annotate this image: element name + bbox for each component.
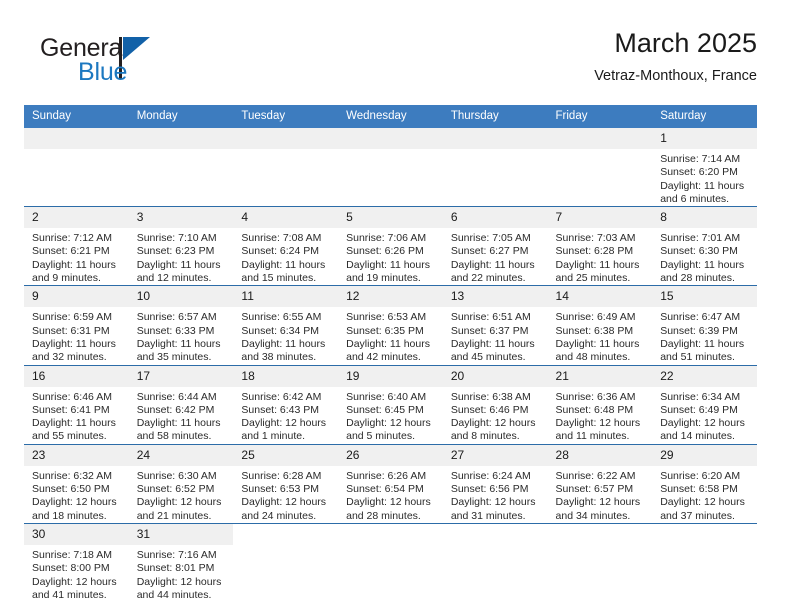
daylight-text-line1: Daylight: 11 hours [556,259,647,272]
calendar-week-row: 30Sunrise: 7:18 AMSunset: 8:00 PMDayligh… [24,523,757,602]
calendar-day-cell[interactable]: 2Sunrise: 7:12 AMSunset: 6:21 PMDaylight… [24,207,129,286]
day-number: 9 [24,286,129,307]
calendar-day-cell[interactable]: 29Sunrise: 6:20 AMSunset: 6:58 PMDayligh… [652,444,757,523]
day-number: 14 [548,286,653,307]
daylight-text-line2: and 24 minutes. [241,510,332,523]
daylight-text-line1: Daylight: 11 hours [660,180,751,193]
day-details: Sunrise: 6:22 AMSunset: 6:57 PMDaylight:… [548,466,653,523]
day-number [233,128,338,149]
sunset-text: Sunset: 6:48 PM [556,404,647,417]
calendar-day-cell[interactable]: 30Sunrise: 7:18 AMSunset: 8:00 PMDayligh… [24,523,129,602]
day-number [548,524,653,545]
day-details: Sunrise: 6:44 AMSunset: 6:42 PMDaylight:… [129,387,234,444]
daylight-text-line1: Daylight: 12 hours [137,576,228,589]
sunset-text: Sunset: 6:41 PM [32,404,123,417]
sunrise-text: Sunrise: 6:42 AM [241,391,332,404]
daylight-text-line2: and 31 minutes. [451,510,542,523]
daylight-text-line2: and 22 minutes. [451,272,542,285]
sunset-text: Sunset: 6:45 PM [346,404,437,417]
day-number: 6 [443,207,548,228]
calendar-day-cell[interactable]: 23Sunrise: 6:32 AMSunset: 6:50 PMDayligh… [24,444,129,523]
calendar-cell-blank [233,128,338,207]
daylight-text-line1: Daylight: 12 hours [451,417,542,430]
day-number: 24 [129,445,234,466]
day-number: 28 [548,445,653,466]
day-details: Sunrise: 6:30 AMSunset: 6:52 PMDaylight:… [129,466,234,523]
calendar-cell-blank [338,128,443,207]
sunrise-text: Sunrise: 6:55 AM [241,311,332,324]
day-number: 22 [652,366,757,387]
calendar-day-cell[interactable]: 26Sunrise: 6:26 AMSunset: 6:54 PMDayligh… [338,444,443,523]
sunrise-text: Sunrise: 6:46 AM [32,391,123,404]
sunrise-text: Sunrise: 6:51 AM [451,311,542,324]
daylight-text-line1: Daylight: 12 hours [556,496,647,509]
location-subtitle: Vetraz-Monthoux, France [594,65,757,87]
sunset-text: Sunset: 6:20 PM [660,166,751,179]
day-details: Sunrise: 6:46 AMSunset: 6:41 PMDaylight:… [24,387,129,444]
calendar-day-cell[interactable]: 21Sunrise: 6:36 AMSunset: 6:48 PMDayligh… [548,365,653,444]
calendar-day-cell[interactable]: 18Sunrise: 6:42 AMSunset: 6:43 PMDayligh… [233,365,338,444]
calendar-day-cell[interactable]: 12Sunrise: 6:53 AMSunset: 6:35 PMDayligh… [338,286,443,365]
day-details: Sunrise: 7:12 AMSunset: 6:21 PMDaylight:… [24,228,129,285]
sunset-text: Sunset: 6:30 PM [660,245,751,258]
calendar-week-row: 1Sunrise: 7:14 AMSunset: 6:20 PMDaylight… [24,128,757,207]
calendar-day-cell[interactable]: 17Sunrise: 6:44 AMSunset: 6:42 PMDayligh… [129,365,234,444]
daylight-text-line2: and 38 minutes. [241,351,332,364]
page-title: March 2025 [594,26,757,60]
sunrise-text: Sunrise: 7:08 AM [241,232,332,245]
daylight-text-line2: and 18 minutes. [32,510,123,523]
day-details: Sunrise: 7:01 AMSunset: 6:30 PMDaylight:… [652,228,757,285]
day-details: Sunrise: 7:06 AMSunset: 6:26 PMDaylight:… [338,228,443,285]
sunrise-text: Sunrise: 6:28 AM [241,470,332,483]
day-number: 19 [338,366,443,387]
daylight-text-line2: and 55 minutes. [32,430,123,443]
day-number [443,524,548,545]
daylight-text-line2: and 1 minute. [241,430,332,443]
day-details: Sunrise: 6:57 AMSunset: 6:33 PMDaylight:… [129,307,234,364]
calendar-day-cell[interactable]: 8Sunrise: 7:01 AMSunset: 6:30 PMDaylight… [652,207,757,286]
sunset-text: Sunset: 6:26 PM [346,245,437,258]
day-number [338,128,443,149]
weekday-header-sunday: Sunday [24,105,129,128]
calendar-week-row: 9Sunrise: 6:59 AMSunset: 6:31 PMDaylight… [24,286,757,365]
calendar-cell-blank [443,128,548,207]
day-number: 18 [233,366,338,387]
weekday-header-wednesday: Wednesday [338,105,443,128]
sunset-text: Sunset: 6:35 PM [346,325,437,338]
sunset-text: Sunset: 6:28 PM [556,245,647,258]
sunset-text: Sunset: 6:38 PM [556,325,647,338]
sunrise-text: Sunrise: 7:05 AM [451,232,542,245]
day-number: 5 [338,207,443,228]
daylight-text-line1: Daylight: 12 hours [241,417,332,430]
day-details: Sunrise: 6:38 AMSunset: 6:46 PMDaylight:… [443,387,548,444]
sunrise-text: Sunrise: 6:34 AM [660,391,751,404]
sunrise-text: Sunrise: 6:32 AM [32,470,123,483]
sunset-text: Sunset: 6:23 PM [137,245,228,258]
daylight-text-line2: and 25 minutes. [556,272,647,285]
daylight-text-line1: Daylight: 11 hours [137,338,228,351]
general-blue-logo[interactable]: General Blue [40,34,240,94]
day-number [24,128,129,149]
day-number: 17 [129,366,234,387]
daylight-text-line2: and 51 minutes. [660,351,751,364]
daylight-text-line2: and 9 minutes. [32,272,123,285]
calendar-day-cell[interactable]: 14Sunrise: 6:49 AMSunset: 6:38 PMDayligh… [548,286,653,365]
daylight-text-line1: Daylight: 12 hours [660,496,751,509]
daylight-text-line2: and 11 minutes. [556,430,647,443]
daylight-text-line2: and 45 minutes. [451,351,542,364]
daylight-text-line2: and 21 minutes. [137,510,228,523]
day-number: 30 [24,524,129,545]
sunset-text: Sunset: 6:52 PM [137,483,228,496]
sunset-text: Sunset: 6:50 PM [32,483,123,496]
calendar-day-cell[interactable]: 16Sunrise: 6:46 AMSunset: 6:41 PMDayligh… [24,365,129,444]
calendar-day-cell[interactable]: 3Sunrise: 7:10 AMSunset: 6:23 PMDaylight… [129,207,234,286]
daylight-text-line1: Daylight: 12 hours [32,576,123,589]
sunset-text: Sunset: 6:57 PM [556,483,647,496]
day-number: 25 [233,445,338,466]
calendar-cell-blank [548,128,653,207]
sunset-text: Sunset: 6:53 PM [241,483,332,496]
calendar-day-cell[interactable]: 5Sunrise: 7:06 AMSunset: 6:26 PMDaylight… [338,207,443,286]
calendar-cell-blank [129,128,234,207]
sunrise-text: Sunrise: 7:18 AM [32,549,123,562]
day-number: 26 [338,445,443,466]
day-details: Sunrise: 7:10 AMSunset: 6:23 PMDaylight:… [129,228,234,285]
sunset-text: Sunset: 6:54 PM [346,483,437,496]
calendar-day-cell[interactable]: 24Sunrise: 6:30 AMSunset: 6:52 PMDayligh… [129,444,234,523]
calendar-cell-empty [233,523,338,602]
daylight-text-line1: Daylight: 12 hours [346,417,437,430]
sunset-text: Sunset: 6:24 PM [241,245,332,258]
day-number: 16 [24,366,129,387]
day-number: 12 [338,286,443,307]
day-number: 21 [548,366,653,387]
day-number: 15 [652,286,757,307]
day-details: Sunrise: 6:47 AMSunset: 6:39 PMDaylight:… [652,307,757,364]
daylight-text-line1: Daylight: 12 hours [137,496,228,509]
calendar-week-row: 23Sunrise: 6:32 AMSunset: 6:50 PMDayligh… [24,444,757,523]
day-number [652,524,757,545]
sunrise-text: Sunrise: 6:38 AM [451,391,542,404]
daylight-text-line1: Daylight: 12 hours [556,417,647,430]
sunrise-text: Sunrise: 6:44 AM [137,391,228,404]
weekday-header-thursday: Thursday [443,105,548,128]
daylight-text-line2: and 28 minutes. [660,272,751,285]
sunrise-text: Sunrise: 6:59 AM [32,311,123,324]
day-details: Sunrise: 6:59 AMSunset: 6:31 PMDaylight:… [24,307,129,364]
sunset-text: Sunset: 6:21 PM [32,245,123,258]
daylight-text-line2: and 41 minutes. [32,589,123,602]
day-number [129,128,234,149]
calendar-day-cell[interactable]: 10Sunrise: 6:57 AMSunset: 6:33 PMDayligh… [129,286,234,365]
daylight-text-line1: Daylight: 11 hours [137,417,228,430]
daylight-text-line1: Daylight: 11 hours [241,338,332,351]
sunrise-text: Sunrise: 6:26 AM [346,470,437,483]
day-details: Sunrise: 7:18 AMSunset: 8:00 PMDaylight:… [24,545,129,602]
sunset-text: Sunset: 8:00 PM [32,562,123,575]
calendar-cell-empty [443,523,548,602]
sunrise-text: Sunrise: 7:14 AM [660,153,751,166]
day-number: 1 [652,128,757,149]
day-details: Sunrise: 6:51 AMSunset: 6:37 PMDaylight:… [443,307,548,364]
daylight-text-line2: and 5 minutes. [346,430,437,443]
day-number [443,128,548,149]
sunset-text: Sunset: 6:46 PM [451,404,542,417]
sunset-text: Sunset: 6:58 PM [660,483,751,496]
sunset-text: Sunset: 6:39 PM [660,325,751,338]
calendar-day-cell[interactable]: 9Sunrise: 6:59 AMSunset: 6:31 PMDaylight… [24,286,129,365]
sunset-text: Sunset: 8:01 PM [137,562,228,575]
daylight-text-line1: Daylight: 12 hours [241,496,332,509]
daylight-text-line2: and 44 minutes. [137,589,228,602]
calendar-day-cell[interactable]: 28Sunrise: 6:22 AMSunset: 6:57 PMDayligh… [548,444,653,523]
day-details: Sunrise: 6:28 AMSunset: 6:53 PMDaylight:… [233,466,338,523]
day-details: Sunrise: 6:42 AMSunset: 6:43 PMDaylight:… [233,387,338,444]
day-details: Sunrise: 6:55 AMSunset: 6:34 PMDaylight:… [233,307,338,364]
day-number: 31 [129,524,234,545]
calendar-day-cell[interactable]: 7Sunrise: 7:03 AMSunset: 6:28 PMDaylight… [548,207,653,286]
calendar-page: General Blue March 2025 Vetraz-Monthoux,… [0,0,792,612]
sunrise-text: Sunrise: 7:03 AM [556,232,647,245]
daylight-text-line1: Daylight: 12 hours [32,496,123,509]
sunset-text: Sunset: 6:43 PM [241,404,332,417]
calendar-body: 1Sunrise: 7:14 AMSunset: 6:20 PMDaylight… [24,128,757,602]
calendar-day-cell[interactable]: 6Sunrise: 7:05 AMSunset: 6:27 PMDaylight… [443,207,548,286]
page-header: General Blue March 2025 Vetraz-Monthoux,… [24,26,757,98]
daylight-text-line1: Daylight: 11 hours [451,338,542,351]
sunset-text: Sunset: 6:27 PM [451,245,542,258]
day-details: Sunrise: 6:26 AMSunset: 6:54 PMDaylight:… [338,466,443,523]
daylight-text-line1: Daylight: 11 hours [660,259,751,272]
sunset-text: Sunset: 6:33 PM [137,325,228,338]
daylight-text-line1: Daylight: 11 hours [137,259,228,272]
daylight-text-line2: and 37 minutes. [660,510,751,523]
day-number: 8 [652,207,757,228]
sunrise-text: Sunrise: 7:10 AM [137,232,228,245]
sunrise-text: Sunrise: 6:24 AM [451,470,542,483]
daylight-text-line2: and 14 minutes. [660,430,751,443]
day-details: Sunrise: 7:08 AMSunset: 6:24 PMDaylight:… [233,228,338,285]
daylight-text-line2: and 28 minutes. [346,510,437,523]
calendar-cell-empty [548,523,653,602]
day-number: 3 [129,207,234,228]
calendar-day-cell[interactable]: 11Sunrise: 6:55 AMSunset: 6:34 PMDayligh… [233,286,338,365]
calendar-day-cell[interactable]: 31Sunrise: 7:16 AMSunset: 8:01 PMDayligh… [129,523,234,602]
day-number: 27 [443,445,548,466]
sunset-text: Sunset: 6:31 PM [32,325,123,338]
daylight-text-line2: and 12 minutes. [137,272,228,285]
day-number: 29 [652,445,757,466]
day-number [338,524,443,545]
calendar-header-row: Sunday Monday Tuesday Wednesday Thursday… [24,105,757,128]
day-number: 10 [129,286,234,307]
day-details: Sunrise: 6:34 AMSunset: 6:49 PMDaylight:… [652,387,757,444]
daylight-text-line1: Daylight: 11 hours [346,338,437,351]
sunrise-text: Sunrise: 6:47 AM [660,311,751,324]
daylight-text-line1: Daylight: 11 hours [346,259,437,272]
sunset-text: Sunset: 6:49 PM [660,404,751,417]
day-number [548,128,653,149]
sunrise-text: Sunrise: 7:01 AM [660,232,751,245]
sunrise-text: Sunrise: 7:06 AM [346,232,437,245]
daylight-text-line1: Daylight: 12 hours [346,496,437,509]
day-details: Sunrise: 7:14 AMSunset: 6:20 PMDaylight:… [652,149,757,206]
day-number [233,524,338,545]
day-details: Sunrise: 7:05 AMSunset: 6:27 PMDaylight:… [443,228,548,285]
daylight-text-line1: Daylight: 11 hours [556,338,647,351]
day-number: 2 [24,207,129,228]
calendar-cell-empty [338,523,443,602]
sunrise-text: Sunrise: 6:20 AM [660,470,751,483]
calendar-day-cell[interactable]: 15Sunrise: 6:47 AMSunset: 6:39 PMDayligh… [652,286,757,365]
sunrise-text: Sunrise: 6:30 AM [137,470,228,483]
calendar-day-cell[interactable]: 4Sunrise: 7:08 AMSunset: 6:24 PMDaylight… [233,207,338,286]
daylight-text-line2: and 48 minutes. [556,351,647,364]
logo-text-blue: Blue [78,58,127,87]
day-details: Sunrise: 6:36 AMSunset: 6:48 PMDaylight:… [548,387,653,444]
calendar-cell-blank [24,128,129,207]
daylight-text-line1: Daylight: 11 hours [32,338,123,351]
sunrise-text: Sunrise: 6:49 AM [556,311,647,324]
daylight-text-line1: Daylight: 11 hours [32,259,123,272]
day-details: Sunrise: 6:49 AMSunset: 6:38 PMDaylight:… [548,307,653,364]
day-number: 11 [233,286,338,307]
calendar-day-cell[interactable]: 13Sunrise: 6:51 AMSunset: 6:37 PMDayligh… [443,286,548,365]
daylight-text-line2: and 34 minutes. [556,510,647,523]
daylight-text-line2: and 42 minutes. [346,351,437,364]
weekday-header-friday: Friday [548,105,653,128]
title-block: March 2025 Vetraz-Monthoux, France [594,26,757,87]
daylight-text-line2: and 58 minutes. [137,430,228,443]
weekday-header-monday: Monday [129,105,234,128]
calendar-week-row: 2Sunrise: 7:12 AMSunset: 6:21 PMDaylight… [24,207,757,286]
daylight-text-line1: Daylight: 11 hours [660,338,751,351]
calendar-day-cell[interactable]: 19Sunrise: 6:40 AMSunset: 6:45 PMDayligh… [338,365,443,444]
daylight-text-line2: and 8 minutes. [451,430,542,443]
day-details: Sunrise: 6:32 AMSunset: 6:50 PMDaylight:… [24,466,129,523]
sunset-text: Sunset: 6:34 PM [241,325,332,338]
day-details: Sunrise: 6:20 AMSunset: 6:58 PMDaylight:… [652,466,757,523]
calendar-day-cell[interactable]: 20Sunrise: 6:38 AMSunset: 6:46 PMDayligh… [443,365,548,444]
day-details: Sunrise: 6:24 AMSunset: 6:56 PMDaylight:… [443,466,548,523]
day-number: 23 [24,445,129,466]
daylight-text-line2: and 32 minutes. [32,351,123,364]
sunrise-text: Sunrise: 7:12 AM [32,232,123,245]
calendar-week-row: 16Sunrise: 6:46 AMSunset: 6:41 PMDayligh… [24,365,757,444]
daylight-text-line1: Daylight: 12 hours [451,496,542,509]
daylight-text-line2: and 15 minutes. [241,272,332,285]
sunrise-text: Sunrise: 6:22 AM [556,470,647,483]
sunrise-text: Sunrise: 7:16 AM [137,549,228,562]
daylight-text-line1: Daylight: 11 hours [32,417,123,430]
day-number: 7 [548,207,653,228]
sunrise-text: Sunrise: 6:40 AM [346,391,437,404]
day-number: 13 [443,286,548,307]
sunrise-text: Sunrise: 6:57 AM [137,311,228,324]
day-details: Sunrise: 7:16 AMSunset: 8:01 PMDaylight:… [129,545,234,602]
calendar-day-cell[interactable]: 1Sunrise: 7:14 AMSunset: 6:20 PMDaylight… [652,128,757,207]
weekday-header-saturday: Saturday [652,105,757,128]
day-number: 4 [233,207,338,228]
day-details: Sunrise: 6:40 AMSunset: 6:45 PMDaylight:… [338,387,443,444]
sunset-text: Sunset: 6:42 PM [137,404,228,417]
sunset-text: Sunset: 6:56 PM [451,483,542,496]
calendar-grid: Sunday Monday Tuesday Wednesday Thursday… [24,105,757,602]
day-number: 20 [443,366,548,387]
day-details: Sunrise: 6:53 AMSunset: 6:35 PMDaylight:… [338,307,443,364]
daylight-text-line2: and 6 minutes. [660,193,751,206]
triangle-logo-icon [123,37,150,60]
daylight-text-line2: and 19 minutes. [346,272,437,285]
sunrise-text: Sunrise: 6:53 AM [346,311,437,324]
calendar-day-cell[interactable]: 25Sunrise: 6:28 AMSunset: 6:53 PMDayligh… [233,444,338,523]
day-details: Sunrise: 7:03 AMSunset: 6:28 PMDaylight:… [548,228,653,285]
daylight-text-line1: Daylight: 11 hours [241,259,332,272]
sunset-text: Sunset: 6:37 PM [451,325,542,338]
calendar-cell-empty [652,523,757,602]
calendar-day-cell[interactable]: 22Sunrise: 6:34 AMSunset: 6:49 PMDayligh… [652,365,757,444]
daylight-text-line2: and 35 minutes. [137,351,228,364]
calendar-day-cell[interactable]: 27Sunrise: 6:24 AMSunset: 6:56 PMDayligh… [443,444,548,523]
daylight-text-line1: Daylight: 11 hours [451,259,542,272]
weekday-header-tuesday: Tuesday [233,105,338,128]
daylight-text-line1: Daylight: 12 hours [660,417,751,430]
sunrise-text: Sunrise: 6:36 AM [556,391,647,404]
